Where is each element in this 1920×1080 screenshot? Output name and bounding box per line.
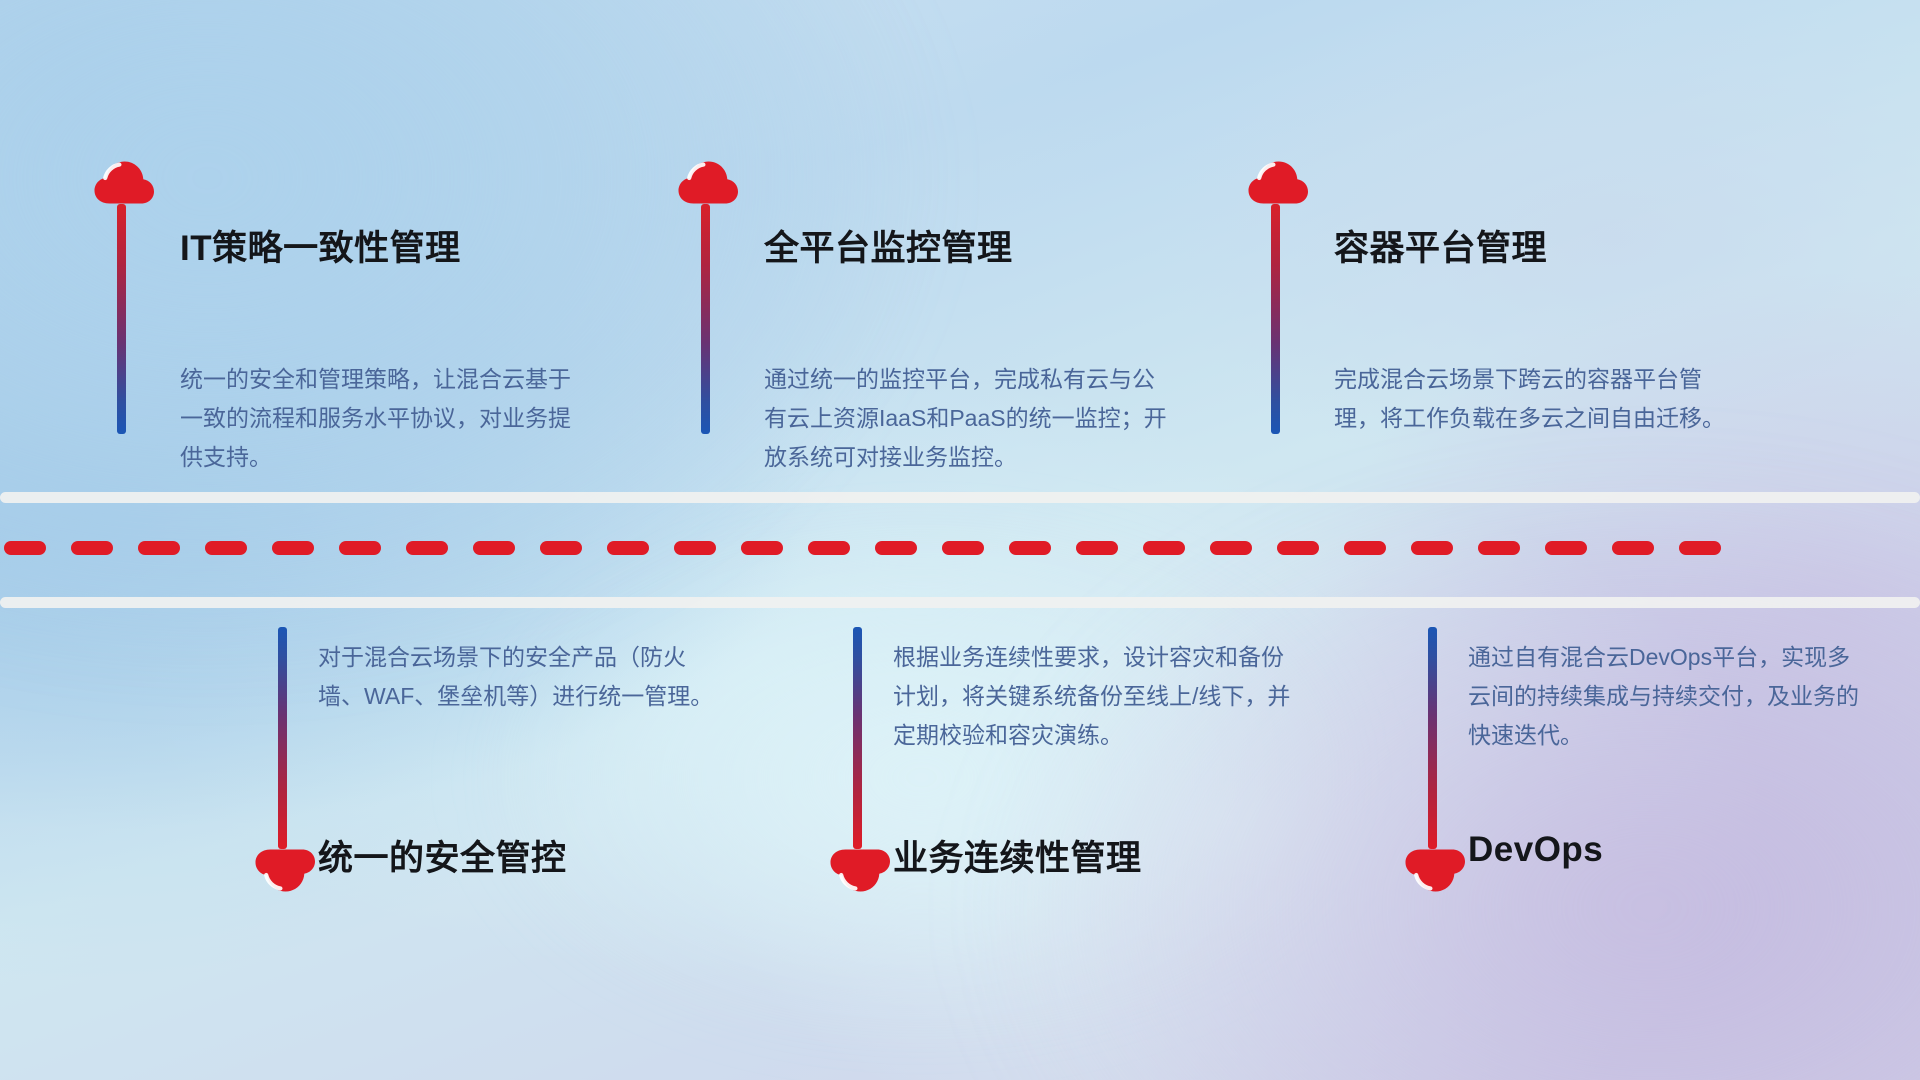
pin-stem — [701, 204, 710, 434]
road-dash — [942, 541, 984, 555]
card-title-unified-security-control: 统一的安全管控 — [318, 830, 567, 881]
road-dash — [138, 541, 180, 555]
pin-stem — [853, 627, 862, 849]
cloud-icon — [1403, 849, 1467, 893]
card-body-full-platform-monitoring: 通过统一的监控平台，完成私有云与公有云上资源IaaS和PaaS的统一监控；开放系… — [764, 360, 1174, 477]
road-dash — [607, 541, 649, 555]
pin-business-continuity-management — [828, 627, 898, 893]
card-title-it-policy-consistency: IT策略一致性管理 — [180, 220, 461, 271]
road-dash — [1344, 541, 1386, 555]
road-dash — [1545, 541, 1587, 555]
pin-full-platform-monitoring — [676, 160, 746, 434]
pin-stem — [1428, 627, 1437, 849]
road-dash — [1076, 541, 1118, 555]
pin-stem — [278, 627, 287, 849]
road-dash — [540, 541, 582, 555]
card-body-it-policy-consistency: 统一的安全和管理策略，让混合云基于一致的流程和服务水平协议，对业务提供支持。 — [180, 360, 580, 477]
road-dash — [1210, 541, 1252, 555]
card-body-unified-security-control: 对于混合云场景下的安全产品（防火墙、WAF、堡垒机等）进行统一管理。 — [318, 638, 718, 716]
card-title-container-platform-management: 容器平台管理 — [1334, 220, 1547, 271]
road-dash — [1679, 541, 1721, 555]
road-dash — [875, 541, 917, 555]
road-edge-bottom — [0, 597, 1920, 608]
pin-container-platform-management — [1246, 160, 1316, 434]
pin-stem — [117, 204, 126, 434]
road-dash — [205, 541, 247, 555]
road-dash — [1143, 541, 1185, 555]
road-dash — [473, 541, 515, 555]
road-dash — [1277, 541, 1319, 555]
road-dash — [272, 541, 314, 555]
road-dash — [71, 541, 113, 555]
pin-devops — [1403, 627, 1473, 893]
pin-it-policy-consistency — [92, 160, 162, 434]
road-dash — [1612, 541, 1654, 555]
road-dash — [339, 541, 381, 555]
card-body-container-platform-management: 完成混合云场景下跨云的容器平台管理，将工作负载在多云之间自由迁移。 — [1334, 360, 1734, 438]
road-center-dashes — [0, 541, 1920, 555]
road-dash — [1478, 541, 1520, 555]
cloud-icon — [1246, 160, 1310, 204]
card-body-business-continuity-management: 根据业务连续性要求，设计容灾和备份计划，将关键系统备份至线上/线下，并定期校验和… — [893, 638, 1293, 755]
road-dash — [808, 541, 850, 555]
card-body-devops: 通过自有混合云DevOps平台，实现多云间的持续集成与持续交付，及业务的快速迭代… — [1468, 638, 1868, 755]
road-dash — [4, 541, 46, 555]
road-dash — [1411, 541, 1453, 555]
road-dash — [1009, 541, 1051, 555]
road-dash — [674, 541, 716, 555]
cloud-icon — [828, 849, 892, 893]
cloud-icon — [92, 160, 156, 204]
road-edge-top — [0, 492, 1920, 503]
cloud-icon — [676, 160, 740, 204]
cloud-icon — [253, 849, 317, 893]
pin-unified-security-control — [253, 627, 323, 893]
card-title-full-platform-monitoring: 全平台监控管理 — [764, 220, 1013, 271]
card-title-devops: DevOps — [1468, 830, 1603, 870]
card-title-business-continuity-management: 业务连续性管理 — [893, 830, 1142, 881]
infographic-canvas: IT策略一致性管理 统一的安全和管理策略，让混合云基于一致的流程和服务水平协议，… — [0, 0, 1920, 1080]
road-dash — [741, 541, 783, 555]
road-dash — [406, 541, 448, 555]
pin-stem — [1271, 204, 1280, 434]
